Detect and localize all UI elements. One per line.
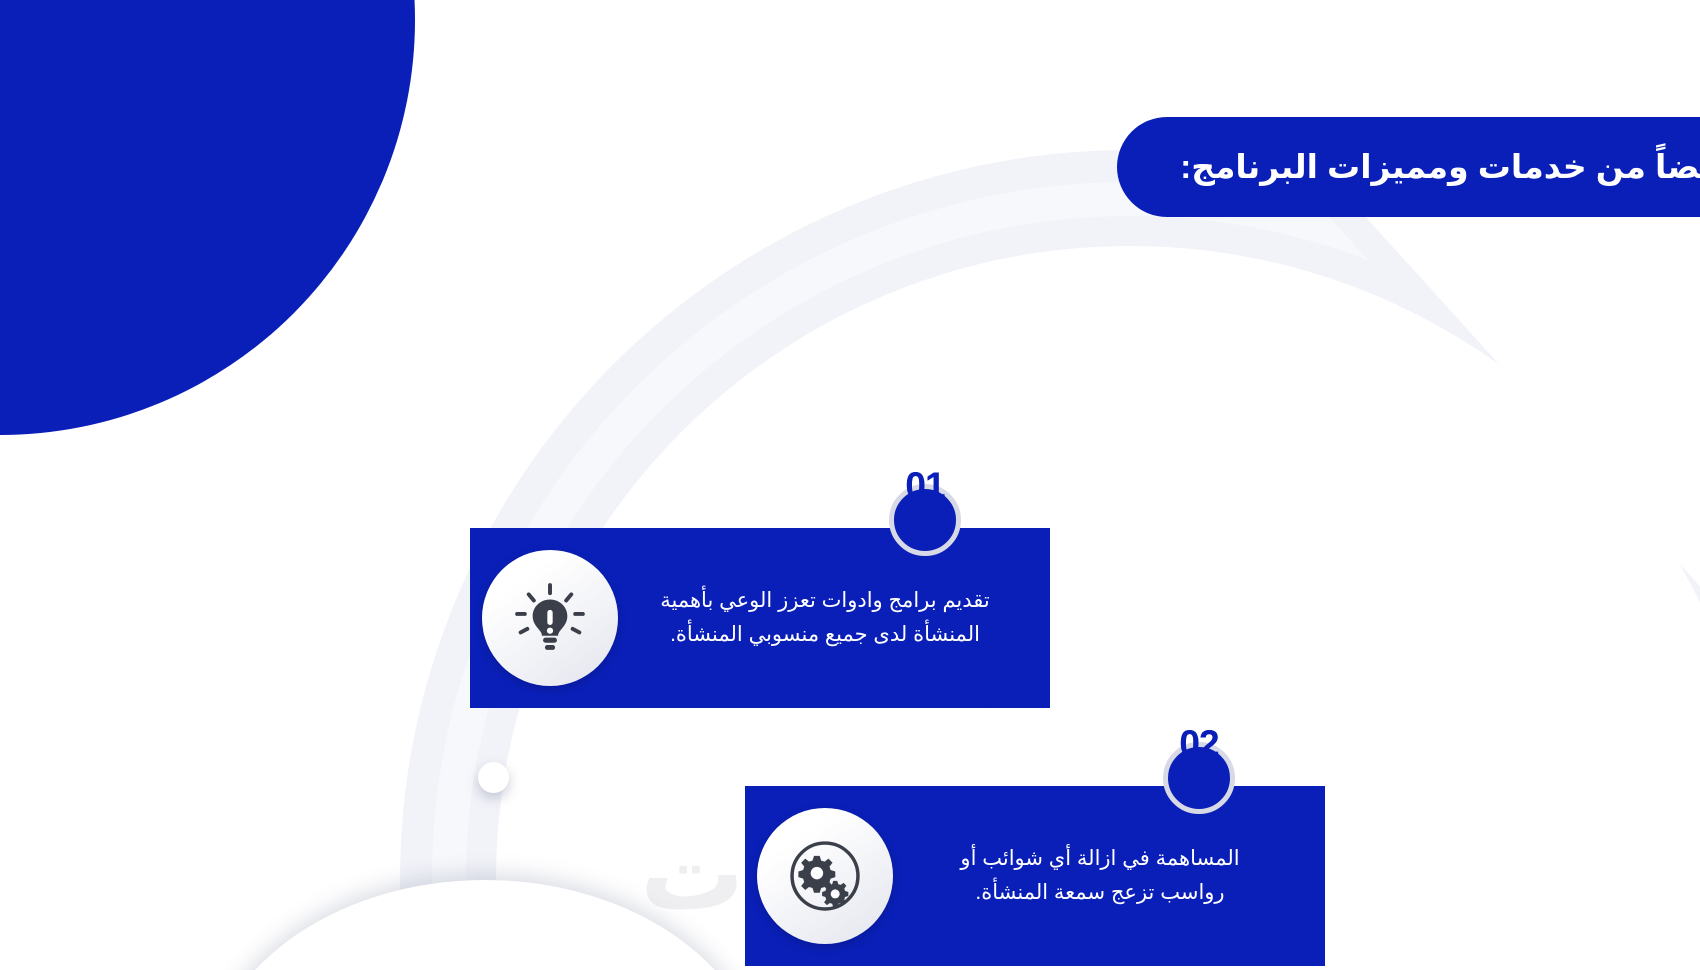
card-description: المساهمة في ازالة أي شوائب أو رواسب تزعج…	[935, 842, 1265, 910]
card-description: تقديم برامج وادوات تعزز الوعي بأهمية الم…	[660, 584, 990, 652]
gears-settings-icon	[757, 808, 893, 944]
feature-card-01[interactable]: تقديم برامج وادوات تعزز الوعي بأهمية الم…	[470, 528, 1050, 708]
gears-settings-icon-svg	[788, 839, 862, 913]
feature-card-02[interactable]: المساهمة في ازالة أي شوائب أو رواسب تزعج…	[745, 786, 1325, 966]
header-banner: بعضاً من خدمات ومميزات البرنامج:	[1117, 117, 1700, 217]
step-number-badge-01: 01	[889, 484, 961, 556]
lightbulb-alert-icon	[482, 550, 618, 686]
page-title: بعضاً من خدمات ومميزات البرنامج:	[1180, 147, 1700, 187]
step-number-label: 02	[1179, 723, 1218, 765]
step-number-badge-02: 02	[1163, 742, 1235, 814]
lightbulb-alert-icon-svg	[513, 581, 587, 655]
decorative-white-dot	[478, 762, 509, 793]
decorative-blue-circle	[0, 0, 415, 435]
step-number-label: 01	[905, 465, 944, 507]
slide-canvas: خمسات بعضاً من خدمات ومميزات البرنامج:	[0, 0, 1700, 970]
